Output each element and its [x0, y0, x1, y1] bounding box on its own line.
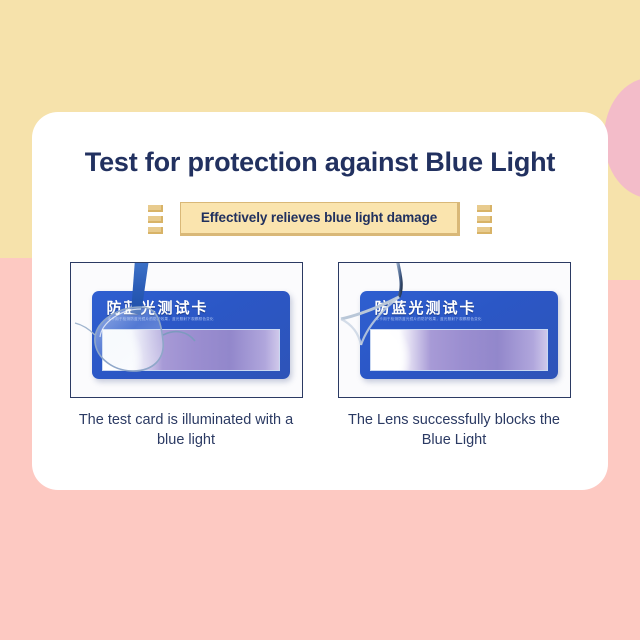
page-title: Test for protection against Blue Light — [32, 147, 608, 178]
panel-illuminated: 防蓝光测试卡 本卡用于检测防蓝光镜片的防护效果，蓝光照射下观察颜色变化 — [70, 262, 303, 450]
promo-page: Test for protection against Blue Light E… — [0, 0, 640, 640]
panel-image-illuminated: 防蓝光测试卡 本卡用于检测防蓝光镜片的防护效果，蓝光照射下观察颜色变化 — [70, 262, 303, 398]
bracket-marks-icon — [148, 205, 163, 234]
bracket-mark — [148, 205, 163, 212]
bracket-mark — [148, 216, 163, 223]
bracket-mark — [477, 216, 492, 223]
eyeglasses-lens-icon — [339, 263, 571, 398]
caption-illuminated: The test card is illuminated with a blue… — [70, 411, 303, 450]
caption-blocked: The Lens successfully blocks the Blue Li… — [338, 411, 571, 450]
banner-row: Effectively relieves blue light damage — [32, 202, 608, 236]
status-badge: Effectively relieves blue light damage — [180, 202, 460, 236]
bracket-mark — [477, 227, 492, 234]
bracket-marks-icon — [477, 205, 492, 234]
content-card: Test for protection against Blue Light E… — [32, 112, 608, 490]
comparison-panels: 防蓝光测试卡 本卡用于检测防蓝光镜片的防护效果，蓝光照射下观察颜色变化 — [32, 262, 608, 450]
bracket-mark — [148, 227, 163, 234]
panel-blocked: 防蓝光测试卡 本卡用于检测防蓝光镜片的防护效果，蓝光照射下观察颜色变化 — [338, 262, 571, 450]
panel-image-blocked: 防蓝光测试卡 本卡用于检测防蓝光镜片的防护效果，蓝光照射下观察颜色变化 — [338, 262, 571, 398]
eyeglasses-lens-icon — [71, 263, 303, 398]
bracket-mark — [477, 205, 492, 212]
